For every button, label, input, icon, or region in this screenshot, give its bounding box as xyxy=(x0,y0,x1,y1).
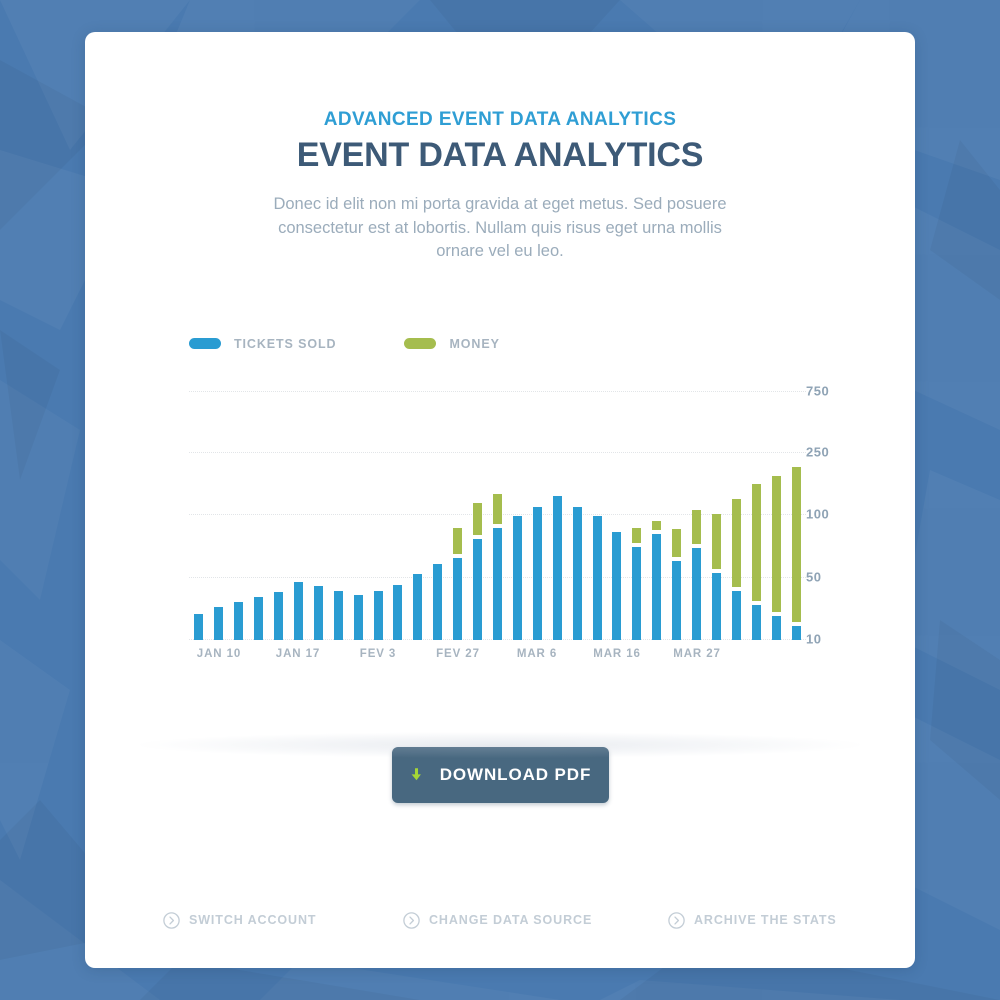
chart-bar-segment-tickets-sold xyxy=(652,534,661,640)
chart-bar[interactable] xyxy=(732,380,741,640)
chart-bar-segment-money xyxy=(473,503,482,535)
chart-bar-segment-tickets-sold xyxy=(553,496,562,640)
chart-bar-segment-tickets-sold xyxy=(612,532,621,640)
chart-bar[interactable] xyxy=(533,380,542,640)
chart-bar[interactable] xyxy=(553,380,562,640)
card-footer: SWITCH ACCOUNT CHANGE DATA SOURCE ARCHIV… xyxy=(85,898,915,942)
chart-bar[interactable] xyxy=(652,380,661,640)
chart-y-tick-label: 50 xyxy=(806,569,821,584)
chart-bar-segment-tickets-sold xyxy=(254,597,263,640)
chart-bar[interactable] xyxy=(254,380,263,640)
chart-y-tick-label: 100 xyxy=(806,506,829,521)
legend-item-tickets-sold[interactable]: TICKETS SOLD xyxy=(189,337,336,351)
chart-bar-segment-tickets-sold xyxy=(473,539,482,640)
card-header: ADVANCED EVENT DATA ANALYTICS EVENT DATA… xyxy=(85,32,915,264)
chart-bar-segment-tickets-sold xyxy=(334,591,343,640)
chart-bar[interactable] xyxy=(194,380,203,640)
chart-bar-segment-tickets-sold xyxy=(712,573,721,640)
chart-bar-segment-tickets-sold xyxy=(374,591,383,640)
chart-bar[interactable] xyxy=(493,380,502,640)
chart-bar[interactable] xyxy=(593,380,602,640)
legend-item-money[interactable]: MONEY xyxy=(404,337,499,351)
chart-x-tick-label: MAR 6 xyxy=(517,648,557,660)
chart-bar-segment-tickets-sold xyxy=(573,507,582,640)
page-subtitle: Donec id elit non mi porta gravida at eg… xyxy=(254,193,746,263)
chart-bar-segment-money xyxy=(652,521,661,530)
chart-bar[interactable] xyxy=(632,380,641,640)
chart-bar-segment-tickets-sold xyxy=(513,516,522,640)
chart-bar[interactable] xyxy=(354,380,363,640)
chart-bar-segment-tickets-sold xyxy=(672,561,681,640)
chart-bar-segment-tickets-sold xyxy=(393,585,402,640)
legend-swatch-icon xyxy=(404,338,436,349)
chart-bar[interactable] xyxy=(612,380,621,640)
chart-bar-segment-tickets-sold xyxy=(294,582,303,640)
footer-link-switch-account[interactable]: SWITCH ACCOUNT xyxy=(163,912,316,929)
chart-x-tick-label: MAR 27 xyxy=(673,648,721,660)
chart-bar-segment-tickets-sold xyxy=(433,564,442,640)
chart-bar-segment-tickets-sold xyxy=(453,558,462,640)
footer-link-label: CHANGE DATA SOURCE xyxy=(429,913,592,927)
footer-link-label: ARCHIVE THE STATS xyxy=(694,913,837,927)
chart-bar[interactable] xyxy=(433,380,442,640)
chart-x-tick-label: JAN 10 xyxy=(197,648,241,660)
chart-legend: TICKETS SOLD MONEY xyxy=(85,337,915,351)
chart-bar[interactable] xyxy=(473,380,482,640)
chart-bar[interactable] xyxy=(513,380,522,640)
chart-bar-segment-tickets-sold xyxy=(214,607,223,640)
chart-bar-segment-money xyxy=(692,510,701,544)
chart-bar-segment-money xyxy=(672,529,681,557)
chart-bar-segment-money xyxy=(632,528,641,543)
chart-bar-segment-tickets-sold xyxy=(732,591,741,640)
chevron-right-circle-icon xyxy=(163,912,180,929)
chart-bar-segment-money xyxy=(493,494,502,524)
chart-container: JAN 10JAN 17FEV 3FEV 27MAR 6MAR 16MAR 27… xyxy=(85,380,915,670)
chart-bar[interactable] xyxy=(772,380,781,640)
chart-bar[interactable] xyxy=(234,380,243,640)
chart-shadow-divider xyxy=(140,732,860,758)
chart-bar-segment-tickets-sold xyxy=(772,616,781,640)
download-pdf-label: DOWNLOAD PDF xyxy=(440,765,592,785)
chart-bar-segment-tickets-sold xyxy=(413,574,422,640)
chart-bar[interactable] xyxy=(294,380,303,640)
chart-bar[interactable] xyxy=(692,380,701,640)
legend-swatch-icon xyxy=(189,338,221,349)
chart-bar[interactable] xyxy=(792,380,801,640)
chart-bar-segment-tickets-sold xyxy=(274,592,283,640)
chart-bar-segment-money xyxy=(732,499,741,587)
chart-bar[interactable] xyxy=(374,380,383,640)
eyebrow-text: ADVANCED EVENT DATA ANALYTICS xyxy=(85,110,915,131)
chart-y-tick-label: 250 xyxy=(806,444,829,459)
legend-label: TICKETS SOLD xyxy=(234,337,336,351)
chart-bar-segment-tickets-sold xyxy=(632,547,641,640)
chart-bar-segment-money xyxy=(453,528,462,554)
chart-bar-segment-money xyxy=(772,476,781,612)
footer-link-label: SWITCH ACCOUNT xyxy=(189,913,316,927)
chart-bar-segment-money xyxy=(792,467,801,622)
chart-bar-segment-money xyxy=(752,484,761,601)
chart-bar[interactable] xyxy=(573,380,582,640)
chart-bar[interactable] xyxy=(334,380,343,640)
chart-bar[interactable] xyxy=(413,380,422,640)
chart-x-axis: JAN 10JAN 17FEV 3FEV 27MAR 6MAR 16MAR 27 xyxy=(189,648,806,668)
chart-bar-segment-tickets-sold xyxy=(593,516,602,640)
chart-bar[interactable] xyxy=(752,380,761,640)
chart-bar[interactable] xyxy=(214,380,223,640)
chart-x-tick-label: JAN 17 xyxy=(276,648,320,660)
footer-link-archive-the-stats[interactable]: ARCHIVE THE STATS xyxy=(668,912,837,929)
chart-x-tick-label: FEV 3 xyxy=(360,648,396,660)
chart-bar[interactable] xyxy=(314,380,323,640)
chart-bar[interactable] xyxy=(672,380,681,640)
analytics-card: ADVANCED EVENT DATA ANALYTICS EVENT DATA… xyxy=(85,32,915,968)
chart-bar[interactable] xyxy=(274,380,283,640)
footer-link-change-data-source[interactable]: CHANGE DATA SOURCE xyxy=(403,912,592,929)
chart-y-tick-label: 10 xyxy=(806,631,821,646)
chart-bar-segment-tickets-sold xyxy=(194,614,203,640)
chart-bar-segment-tickets-sold xyxy=(493,528,502,640)
chart-bar-segment-tickets-sold xyxy=(354,595,363,640)
chart-bar-segment-money xyxy=(712,514,721,569)
chart-x-tick-label: FEV 27 xyxy=(436,648,480,660)
chart-bar-segment-tickets-sold xyxy=(533,507,542,640)
chart-plot-area xyxy=(189,380,806,640)
chart-bar[interactable] xyxy=(393,380,402,640)
chart-y-tick-label: 750 xyxy=(806,383,829,398)
legend-label: MONEY xyxy=(449,337,499,351)
chart-bar[interactable] xyxy=(712,380,721,640)
download-arrow-icon xyxy=(409,767,424,782)
chevron-right-circle-icon xyxy=(403,912,420,929)
page-title: EVENT DATA ANALYTICS xyxy=(85,134,915,177)
chart-bar[interactable] xyxy=(453,380,462,640)
chart-bar-segment-tickets-sold xyxy=(692,548,701,640)
chart-bar-segment-tickets-sold xyxy=(314,586,323,640)
chart-bar-segment-tickets-sold xyxy=(792,626,801,640)
chart-x-tick-label: MAR 16 xyxy=(593,648,641,660)
chevron-right-circle-icon xyxy=(668,912,685,929)
chart-bar-segment-tickets-sold xyxy=(752,605,761,640)
chart-bar-segment-tickets-sold xyxy=(234,602,243,640)
